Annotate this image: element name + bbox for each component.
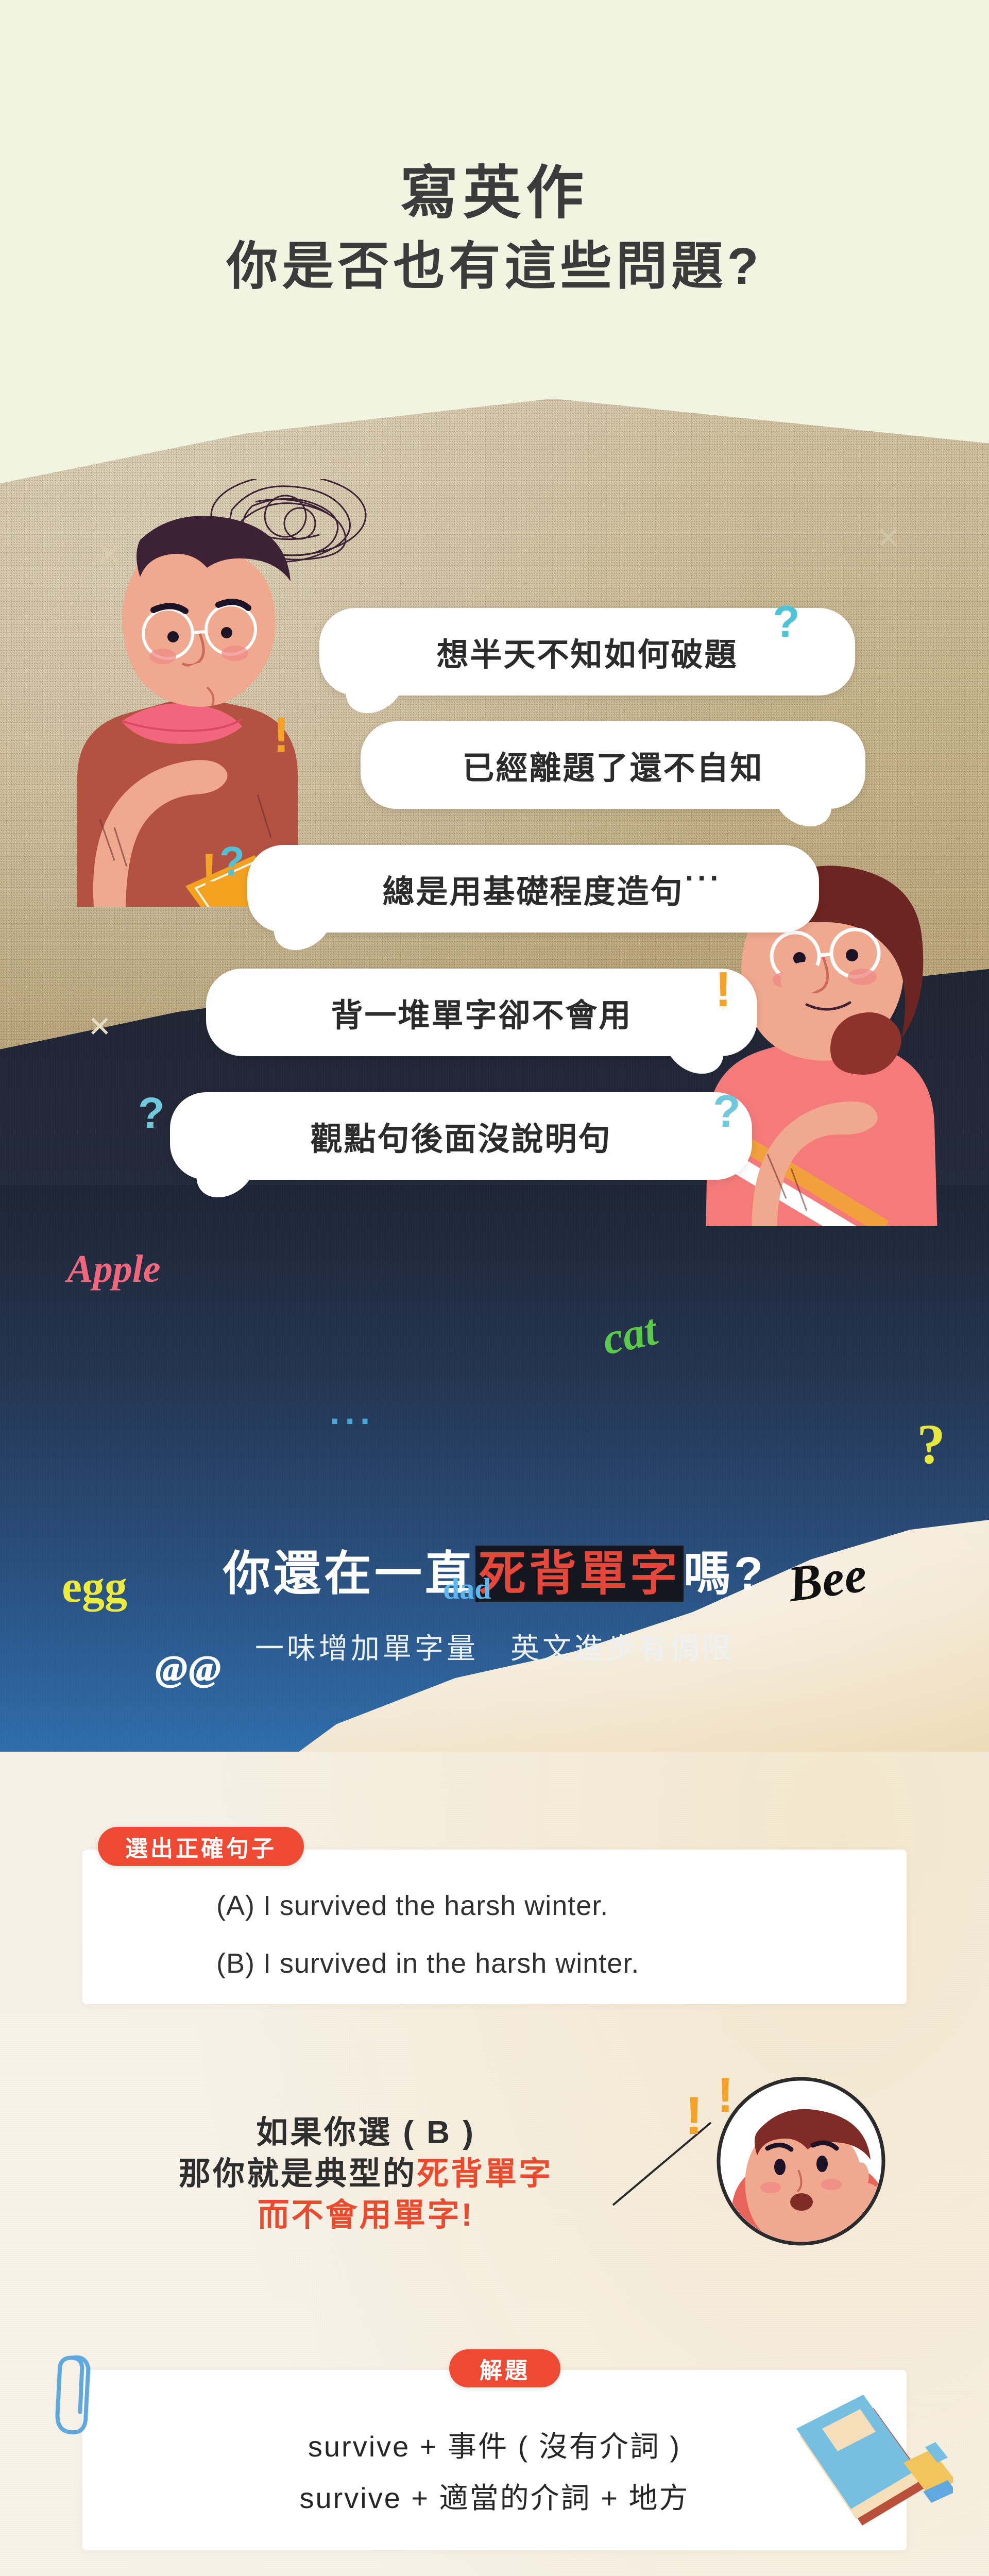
quiz-badge: 選出正確句子	[98, 1827, 304, 1866]
shocked-face-illustration	[716, 2076, 886, 2246]
question-mark-icon-1: ?	[773, 597, 800, 648]
title-line-1: 寫英作	[0, 155, 989, 232]
question-mark-icon-3: ?	[713, 1085, 741, 1138]
book-and-pencil-illustration	[788, 2385, 953, 2545]
woman-eye-right	[846, 949, 858, 961]
title-line-2: 你是否也有這些問題?	[0, 232, 989, 301]
question-mark-icon-2: ?	[219, 838, 245, 885]
floating-word-at: @@	[155, 1649, 221, 1690]
shocked-eye-right	[816, 2156, 828, 2172]
vocab-subtitle: 一味增加單字量 英文進步有侷限	[0, 1625, 989, 1667]
sparkle-icon-3: ✕	[88, 1010, 112, 1044]
exclamation-mark-icon-4: !	[685, 2086, 703, 2147]
exclamation-mark-icon-3: !	[715, 961, 731, 1018]
floating-word-dad: dad	[443, 1571, 491, 1606]
floating-word-cat: cat	[598, 1303, 662, 1365]
answer-line-2-pre: 那你就是典型的	[179, 2156, 417, 2192]
content-section: 選出正確句子 (A) I survived the harsh winter. …	[0, 1752, 989, 2576]
exclamation-mark-icon-1: !	[273, 707, 289, 764]
question-mark-icon-4: ?	[138, 1088, 164, 1138]
ellipsis-icon-hero: ...	[685, 853, 722, 888]
solution-badge: 解題	[449, 2349, 560, 2387]
shocked-mouth	[790, 2193, 813, 2211]
shocked-finger	[850, 2162, 869, 2188]
infographic-root: 寫英作 你是否也有這些問題?	[0, 0, 989, 2576]
solution-line-1: survive + 事件 ( 沒有介詞 )	[82, 2421, 907, 2472]
quiz-card	[82, 1850, 907, 2004]
floating-word-bee: Bee	[785, 1546, 870, 1614]
speech-bubble-5: 觀點句後面沒說明句	[170, 1092, 752, 1180]
quiz-option-b[interactable]: (B) I survived in the harsh winter.	[216, 1947, 639, 1979]
speech-bubble-2: 已經離題了還不自知	[361, 721, 865, 809]
answer-line-2-red: 死背單字	[417, 2156, 553, 2192]
headline-pre: 你還在一直	[223, 1548, 475, 1600]
man-eye-left	[167, 631, 179, 642]
headline-post: 嗎?	[684, 1548, 766, 1600]
floating-word-ellipsis: ...	[330, 1391, 375, 1432]
solution-line-2: survive + 適當的介詞 + 地方	[82, 2473, 907, 2523]
floating-word-question: ?	[917, 1412, 945, 1477]
quiz-option-a[interactable]: (A) I survived the harsh winter.	[216, 1890, 608, 1922]
hero-section: 寫英作 你是否也有這些問題?	[0, 0, 989, 1226]
man-blush-left	[149, 649, 176, 664]
exclamation-mark-icon-5: !	[717, 2067, 734, 2124]
page-title: 寫英作 你是否也有這些問題?	[0, 155, 989, 301]
sparkle-icon-1: ✕	[95, 536, 123, 574]
woman-blush-right	[848, 969, 877, 985]
speech-bubble-4: 背一堆單字卻不會用	[206, 969, 757, 1056]
sparkle-icon-2: ✕	[876, 520, 901, 555]
floating-word-apple: Apple	[67, 1247, 161, 1292]
headline-highlight: 死背單字	[475, 1546, 684, 1602]
man-blush-right	[221, 646, 248, 661]
speech-bubble-3: 總是用基礎程度造句	[247, 845, 819, 933]
exclamation-mark-icon-2: !	[201, 843, 217, 900]
floating-word-egg: egg	[62, 1561, 127, 1613]
man-eye-right	[221, 627, 232, 638]
paperclip-icon-blue	[49, 2351, 96, 2439]
shocked-eye-left	[774, 2159, 786, 2175]
